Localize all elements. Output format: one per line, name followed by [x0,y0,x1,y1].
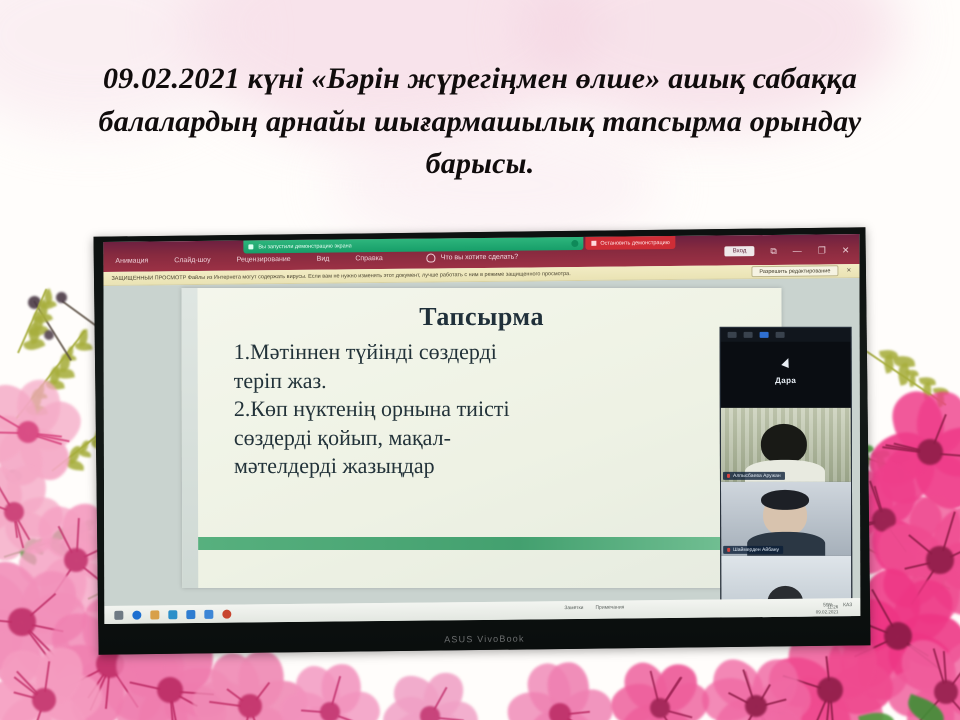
bud [56,292,67,303]
participant-label-2: Шаймерден Айбану [733,547,779,553]
mouse-cursor-icon [781,357,792,368]
tab-slideshow[interactable]: Слайд-шоу [174,257,210,264]
share-icon[interactable]: ⧉ [770,246,776,255]
participant-label-1: Алпысбаева Аружан [733,473,781,479]
slide-accent-band [198,537,782,550]
store-icon[interactable] [168,610,177,619]
laptop-brand-label: ASUS VivoBook [444,633,525,644]
window-controls: Вход ⧉ — ❐ ✕ [725,245,850,256]
video-tile-speaker[interactable]: Дара [721,342,851,408]
slide-line-4: сөздерді қойып, мақал- [234,424,760,453]
system-clock[interactable]: 11:26 09.02.2021 [816,604,839,615]
gallery-view-icon[interactable] [744,332,753,338]
mic-muted-icon [727,474,730,478]
slide-body: 1.Мәтіннен түйінді сөздерді теріп жаз. 2… [234,338,760,481]
stop-square-icon [591,241,596,246]
grid-icon[interactable] [776,332,785,338]
video-tile-participant-1[interactable]: Алпысбаева Аружан [721,408,851,482]
tab-view[interactable]: Вид [317,256,330,263]
file-explorer-icon[interactable] [150,610,159,619]
minimize-button[interactable]: — [793,246,802,255]
stop-share-label: Остановить демонстрацию [600,240,669,247]
restore-button[interactable]: ❐ [818,246,826,255]
slide-line-3: 2.Көп нүктенің орнына тиісті [234,395,760,424]
leaf [22,336,44,354]
participant-head [761,424,807,464]
zoom-icon[interactable] [222,609,231,618]
tell-me-label: Что вы хотите сделать? [441,254,518,262]
edge-icon[interactable] [132,610,141,619]
close-button[interactable]: ✕ [842,246,850,255]
status-bar-middle: Заметки Примечания [564,605,624,612]
tab-review[interactable]: Рецензирование [237,256,291,264]
bud [44,330,54,340]
title-line-3: барысы. [22,143,938,186]
share-indicator-icon [248,244,253,249]
participant-name-2: Шаймерден Айбану [723,546,783,554]
word-icon[interactable] [186,610,195,619]
stamen [0,431,19,434]
screen-share-message: Вы запустили демонстрацию экрана [258,243,351,250]
leaf [77,449,91,457]
leaf [74,341,93,353]
tab-help[interactable]: Справка [355,255,382,262]
presentation-slide[interactable]: Тапсырма 1.Мәтіннен түйінді сөздерді тер… [181,288,782,588]
participant-hair [761,490,809,510]
slide-line-2: теріп жаз. [234,367,760,396]
mic-muted-icon [727,548,730,552]
notes-button[interactable]: Заметки [564,605,583,611]
video-tile-participant-2[interactable]: Шаймерден Айбану [721,482,851,556]
speaker-view-icon[interactable] [728,332,737,338]
slide-left-strip [181,288,198,588]
sign-in-button[interactable]: Вход [725,246,755,256]
clock-date: 09.02.2021 [816,610,839,616]
enable-editing-button[interactable]: Разрешить редактирование [751,265,838,277]
slide-line-1: 1.Мәтіннен түйінді сөздерді [234,338,760,367]
ribbon-tabs: Анимация Слайд-шоу Рецензирование Вид Сп… [115,253,518,266]
video-panel-toolbar [721,328,851,342]
title-line-2: балалардың арнайы шығармашылық тапсырма … [22,101,938,144]
slide-title: Тапсырма [182,302,782,332]
participant-name-1: Алпысбаева Аружан [723,472,785,480]
close-icon[interactable]: ✕ [846,267,851,274]
laptop-screen: Анимация Слайд-шоу Рецензирование Вид Сп… [103,234,860,624]
speaker-name-label: Дара [721,376,851,385]
powerpoint-taskbar-icon[interactable] [204,609,213,618]
tell-me-box[interactable]: Что вы хотите сделать? [427,253,518,263]
layout-icon[interactable] [760,332,769,338]
page-title: 09.02.2021 күні «Бәрін жүрегіңмен өлше» … [0,58,960,186]
language-indicator[interactable]: КАЗ [843,602,852,608]
task-view-icon[interactable] [114,610,123,619]
title-line-1: 09.02.2021 күні «Бәрін жүрегіңмен өлше» … [22,58,938,101]
lightbulb-icon [427,253,436,262]
slide-line-5: мәтелдерді жазыңдар [234,452,760,481]
comments-button[interactable]: Примечания [595,605,624,611]
slide-canvas: Тапсырма 1.Мәтіннен түйінді сөздерді тер… [103,278,860,606]
taskbar-icons [104,609,231,619]
flower-center [420,706,440,720]
video-conference-panel: Дара Алпысбаева Аружан [720,327,853,624]
stop-share-button[interactable]: Остановить демонстрацию [585,236,675,250]
share-options-icon[interactable] [571,240,578,247]
laptop-photo: ASUS VivoBook Анимация Слайд-шоу Рецензи… [93,227,870,654]
tab-animation[interactable]: Анимация [115,257,148,264]
